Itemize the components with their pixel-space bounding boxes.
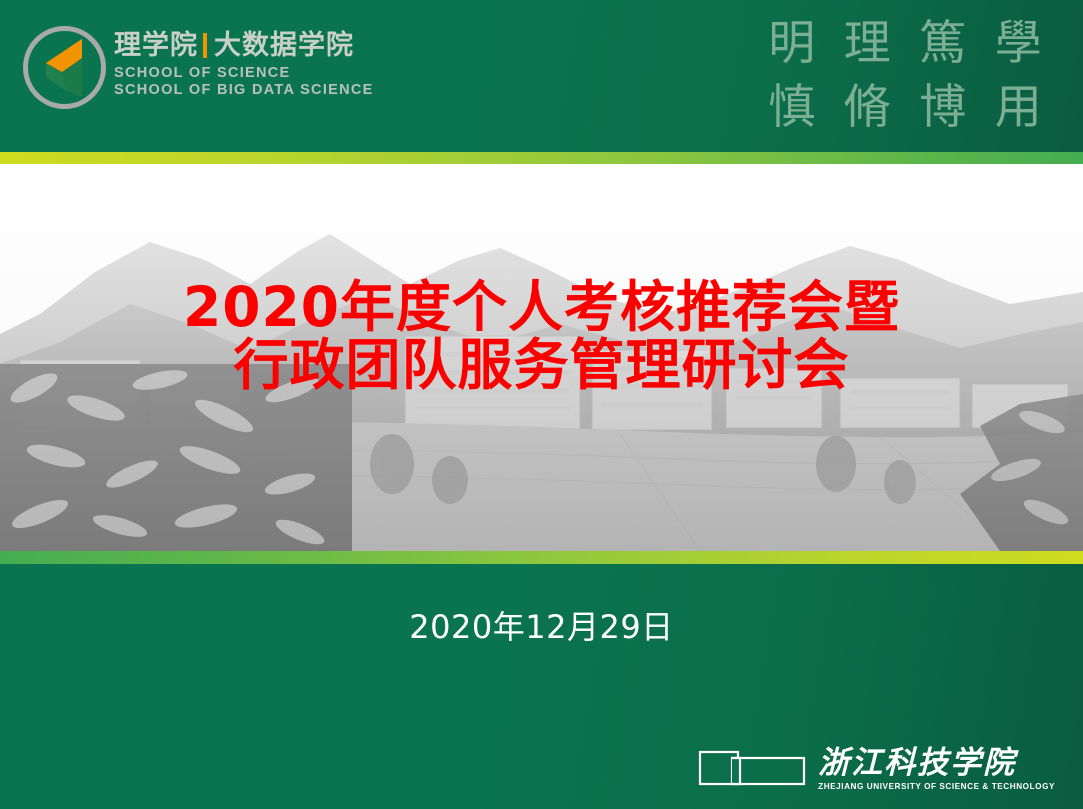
school-emblem-icon <box>16 19 113 116</box>
accent-stripe-top <box>0 152 1083 164</box>
motto-char-6: 脩 <box>831 76 905 140</box>
motto-char-4: 學 <box>982 12 1056 76</box>
college-name-en-line2: SCHOOL OF BIG DATA SCIENCE <box>114 83 374 98</box>
university-logo: 浙江科技学院 ZHEJIANG UNIVERSITY OF SCIENCE & … <box>698 744 1055 796</box>
motto-char-5: 慎 <box>755 76 829 140</box>
motto-char-8: 用 <box>982 76 1056 140</box>
motto-char-3: 篤 <box>906 12 980 76</box>
motto-char-7: 博 <box>906 76 980 140</box>
motto-char-2: 理 <box>831 12 905 76</box>
college-name-divider <box>203 33 207 58</box>
college-name-cn-right: 大数据学院 <box>214 32 354 59</box>
university-name-cn: 浙江科技学院 <box>818 748 1055 779</box>
university-name-block: 浙江科技学院 ZHEJIANG UNIVERSITY OF SCIENCE & … <box>818 748 1055 791</box>
presentation-slide: 理学院 大数据学院 SCHOOL OF SCIENCE SCHOOL OF BI… <box>0 0 1083 809</box>
college-name-cn-left: 理学院 <box>114 32 198 59</box>
college-logo-text: 理学院 大数据学院 SCHOOL OF SCIENCE SCHOOL OF BI… <box>114 29 374 97</box>
college-name-cn: 理学院 大数据学院 <box>114 29 374 61</box>
slide-date: 2020年12月29日 <box>0 602 1083 648</box>
campus-photo <box>0 164 1083 551</box>
slide-header: 理学院 大数据学院 SCHOOL OF SCIENCE SCHOOL OF BI… <box>0 0 1083 152</box>
accent-stripe-bottom <box>0 551 1083 564</box>
interlocking-rectangles-icon <box>698 748 806 792</box>
calligraphy-motto: 明 理 篤 學 慎 脩 博 用 <box>755 12 1055 140</box>
motto-char-1: 明 <box>755 12 829 76</box>
college-name-en-line1: SCHOOL OF SCIENCE <box>114 66 374 81</box>
university-name-en: ZHEJIANG UNIVERSITY OF SCIENCE & TECHNOL… <box>818 783 1055 791</box>
